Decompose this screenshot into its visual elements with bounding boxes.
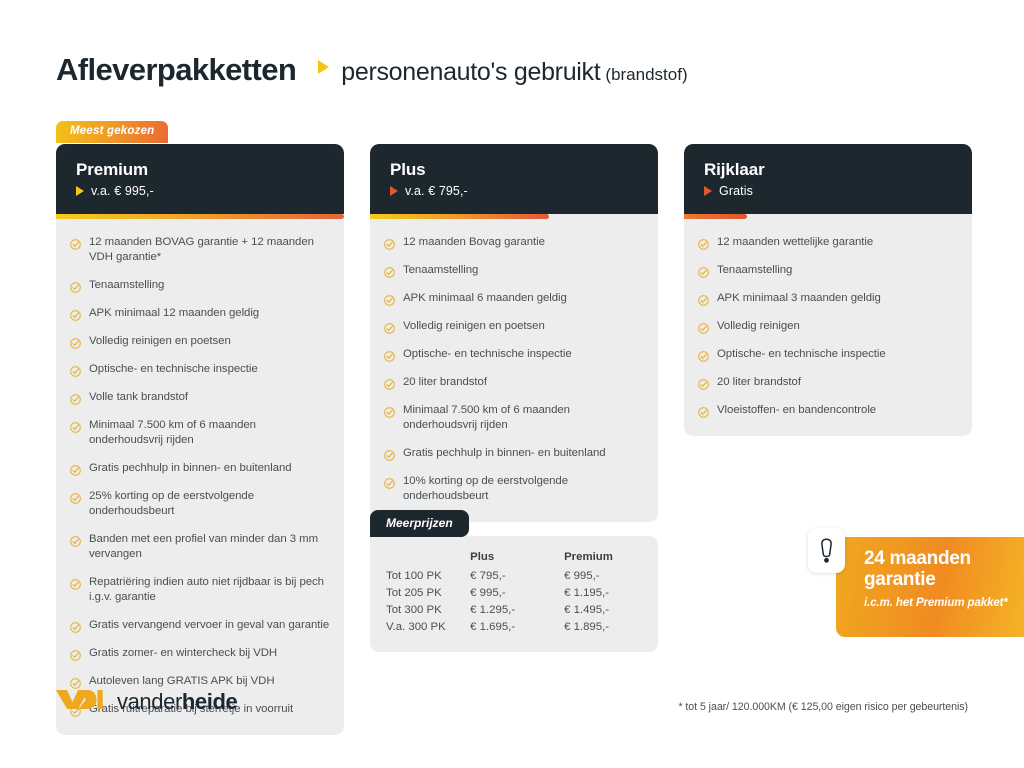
feature-list: 12 maanden Bovag garantieTenaamstellingA… (370, 219, 658, 523)
check-circle-icon (384, 476, 395, 487)
check-circle-icon (384, 377, 395, 388)
footnote: * tot 5 jaar/ 120.000KM (€ 125,00 eigen … (678, 701, 968, 713)
prices-table-head: Plus Premium (370, 548, 658, 568)
check-circle-icon (698, 377, 709, 388)
feature-item: Minimaal 7.500 km of 6 maanden onderhoud… (384, 403, 644, 433)
feature-label: 10% korting op de eerstvolgende onderhou… (403, 474, 644, 504)
check-circle-icon (70, 237, 81, 248)
check-circle-icon (698, 321, 709, 332)
col-header-1: Plus (470, 548, 564, 568)
feature-label: Gratis pechhulp in binnen- en buitenland (403, 446, 606, 461)
feature-label: Gratis pechhulp in binnen- en buitenland (89, 461, 292, 476)
feature-item: Gratis vervangend vervoer in geval van g… (70, 618, 330, 633)
prices-tab-label: Meerprijzen (370, 510, 469, 537)
feature-label: Optische- en technische inspectie (403, 347, 572, 362)
feature-label: Tenaamstelling (403, 263, 478, 278)
feature-label: Minimaal 7.500 km of 6 maanden onderhoud… (403, 403, 644, 433)
check-circle-icon (70, 336, 81, 347)
package-price-row: v.a. € 995,- (76, 184, 324, 198)
feature-item: Repatriëring indien auto niet rijdbaar i… (70, 575, 330, 605)
feature-item: Tenaamstelling (70, 278, 330, 293)
check-circle-icon (70, 534, 81, 545)
table-header-row: Plus Premium (370, 548, 658, 568)
feature-list: 12 maanden wettelijke garantieTenaamstel… (684, 219, 972, 436)
feature-item: Tenaamstelling (384, 263, 644, 278)
feature-label: 20 liter brandstof (403, 375, 487, 390)
check-circle-icon (384, 293, 395, 304)
table-cell: V.a. 300 PK (370, 619, 470, 636)
feature-item: 25% korting op de eerstvolgende onderhou… (70, 489, 330, 519)
feature-item: Volle tank brandstof (70, 390, 330, 405)
feature-label: Gratis vervangend vervoer in geval van g… (89, 618, 329, 633)
table-cell: € 795,- (470, 568, 564, 585)
check-circle-icon (384, 405, 395, 416)
package-card-premium[interactable]: Premium v.a. € 995,- 12 maanden BOVAG ga… (56, 144, 344, 735)
feature-item: Volledig reinigen (698, 319, 958, 334)
table-row: Tot 300 PK€ 1.295,-€ 1.495,- (370, 602, 658, 619)
package-name: Plus (390, 160, 638, 180)
feature-label: Repatriëring indien auto niet rijdbaar i… (89, 575, 330, 605)
table-cell: Tot 300 PK (370, 602, 470, 619)
prices-box: Plus Premium Tot 100 PK€ 795,-€ 995,-Tot… (370, 536, 658, 652)
feature-label: Optische- en technische inspectie (717, 347, 886, 362)
feature-item: 12 maanden wettelijke garantie (698, 235, 958, 250)
table-cell: Tot 205 PK (370, 585, 470, 602)
feature-label: Tenaamstelling (717, 263, 792, 278)
accent-bar (684, 214, 972, 219)
accent-bar (56, 214, 344, 219)
feature-label: Gratis zomer- en wintercheck bij VDH (89, 646, 277, 661)
feature-item: APK minimaal 3 maanden geldig (698, 291, 958, 306)
feature-label: Volledig reinigen en poetsen (89, 334, 231, 349)
feature-label: Minimaal 7.500 km of 6 maanden onderhoud… (89, 418, 330, 448)
table-cell: Tot 100 PK (370, 568, 470, 585)
check-circle-icon (70, 463, 81, 474)
table-row: Tot 100 PK€ 795,-€ 995,- (370, 568, 658, 585)
brand-wordmark: vanderheide (117, 689, 237, 715)
package-price: v.a. € 795,- (405, 184, 468, 198)
table-cell: € 1.695,- (470, 619, 564, 636)
page-subtitle: personenauto's gebruikt (341, 58, 600, 87)
feature-label: Banden met een profiel van minder dan 3 … (89, 532, 330, 562)
feature-item: Banden met een profiel van minder dan 3 … (70, 532, 330, 562)
check-circle-icon (384, 237, 395, 248)
guarantee-subtitle: i.c.m. het Premium pakket* (864, 597, 1008, 609)
col-header-2: Premium (564, 548, 658, 568)
table-cell: € 1.895,- (564, 619, 658, 636)
card-header: Plus v.a. € 795,- (370, 144, 658, 214)
feature-label: Tenaamstelling (89, 278, 164, 293)
triangle-right-icon (76, 186, 84, 196)
check-circle-icon (70, 308, 81, 319)
prices-panel: Meerprijzen Plus Premium Tot 100 PK€ 795… (370, 510, 658, 652)
check-circle-icon (70, 491, 81, 502)
check-circle-icon (384, 321, 395, 332)
feature-label: Volledig reinigen en poetsen (403, 319, 545, 334)
feature-label: 12 maanden wettelijke garantie (717, 235, 873, 250)
brand-logo: vanderheide (56, 688, 237, 715)
check-circle-icon (70, 392, 81, 403)
feature-item: Tenaamstelling (698, 263, 958, 278)
prices-table: Plus Premium Tot 100 PK€ 795,-€ 995,-Tot… (370, 548, 658, 636)
feature-item: Optische- en technische inspectie (384, 347, 644, 362)
package-price-row: Gratis (704, 184, 952, 198)
guarantee-badge: 24 maanden garantie i.c.m. het Premium p… (836, 537, 1024, 637)
table-cell: € 1.195,- (564, 585, 658, 602)
check-circle-icon (70, 620, 81, 631)
slide-root: Afleverpakketten personenauto's gebruikt… (0, 0, 1024, 768)
feature-label: Volledig reinigen (717, 319, 800, 334)
accent-fill (370, 214, 549, 219)
feature-item: Vloeistoffen- en bandencontrole (698, 403, 958, 418)
check-circle-icon (698, 405, 709, 416)
feature-label: APK minimaal 6 maanden geldig (403, 291, 567, 306)
feature-label: 12 maanden BOVAG garantie + 12 maanden V… (89, 235, 330, 265)
package-name: Premium (76, 160, 324, 180)
feature-item: 20 liter brandstof (384, 375, 644, 390)
feature-item: Minimaal 7.500 km of 6 maanden onderhoud… (70, 418, 330, 448)
check-circle-icon (70, 364, 81, 375)
feature-item: Volledig reinigen en poetsen (70, 334, 330, 349)
guarantee-line-1: 24 maanden (864, 549, 1008, 570)
badge-most-chosen: Meest gekozen (56, 121, 168, 143)
feature-item: Gratis pechhulp in binnen- en buitenland (384, 446, 644, 461)
feature-label: Vloeistoffen- en bandencontrole (717, 403, 876, 418)
check-circle-icon (698, 265, 709, 276)
brand-word-bold: heide (182, 689, 237, 714)
feature-label: APK minimaal 12 maanden geldig (89, 306, 259, 321)
check-circle-icon (698, 237, 709, 248)
feature-item: 10% korting op de eerstvolgende onderhou… (384, 474, 644, 504)
check-circle-icon (70, 280, 81, 291)
feature-label: Optische- en technische inspectie (89, 362, 258, 377)
feature-label: 12 maanden Bovag garantie (403, 235, 545, 250)
feature-label: 20 liter brandstof (717, 375, 801, 390)
feature-item: 12 maanden BOVAG garantie + 12 maanden V… (70, 235, 330, 265)
check-circle-icon (698, 349, 709, 360)
triangle-right-icon (318, 60, 329, 74)
accent-fill (56, 214, 344, 219)
feature-item: APK minimaal 6 maanden geldig (384, 291, 644, 306)
guarantee-line-2: garantie (864, 570, 1008, 591)
feature-item: 12 maanden Bovag garantie (384, 235, 644, 250)
check-circle-icon (70, 420, 81, 431)
feature-item: Gratis zomer- en wintercheck bij VDH (70, 646, 330, 661)
prices-table-body: Tot 100 PK€ 795,-€ 995,-Tot 205 PK€ 995,… (370, 568, 658, 636)
check-circle-icon (384, 349, 395, 360)
page-title: Afleverpakketten (56, 52, 296, 88)
feature-item: Gratis pechhulp in binnen- en buitenland (70, 461, 330, 476)
feature-item: Volledig reinigen en poetsen (384, 319, 644, 334)
check-circle-icon (384, 265, 395, 276)
page-header: Afleverpakketten personenauto's gebruikt… (56, 52, 688, 88)
table-cell: € 1.295,- (470, 602, 564, 619)
check-circle-icon (70, 577, 81, 588)
package-card-plus[interactable]: Plus v.a. € 795,- 12 maanden Bovag garan… (370, 144, 658, 522)
exclamation-mark-icon (808, 528, 845, 573)
feature-item: Optische- en technische inspectie (70, 362, 330, 377)
feature-label: 25% korting op de eerstvolgende onderhou… (89, 489, 330, 519)
triangle-right-icon (704, 186, 712, 196)
table-row: Tot 205 PK€ 995,-€ 1.195,- (370, 585, 658, 602)
check-circle-icon (70, 676, 81, 687)
check-circle-icon (698, 293, 709, 304)
package-price: v.a. € 995,- (91, 184, 154, 198)
feature-label: Volle tank brandstof (89, 390, 188, 405)
table-cell: € 1.495,- (564, 602, 658, 619)
table-cell: € 995,- (564, 568, 658, 585)
feature-item: APK minimaal 12 maanden geldig (70, 306, 330, 321)
package-name: Rijklaar (704, 160, 952, 180)
feature-list: 12 maanden BOVAG garantie + 12 maanden V… (56, 219, 344, 736)
card-header: Premium v.a. € 995,- (56, 144, 344, 214)
table-cell: € 995,- (470, 585, 564, 602)
vdh-logo-icon (56, 688, 103, 715)
col-header-0 (370, 548, 470, 568)
feature-item: Optische- en technische inspectie (698, 347, 958, 362)
brand-word-light: vander (117, 689, 182, 714)
feature-item: 20 liter brandstof (698, 375, 958, 390)
package-card-rijklaar[interactable]: Rijklaar Gratis 12 maanden wettelijke ga… (684, 144, 972, 436)
page-subtitle-note: (brandstof) (605, 65, 687, 85)
accent-fill (684, 214, 747, 219)
table-row: V.a. 300 PK€ 1.695,-€ 1.895,- (370, 619, 658, 636)
check-circle-icon (70, 648, 81, 659)
feature-label: APK minimaal 3 maanden geldig (717, 291, 881, 306)
check-circle-icon (384, 448, 395, 459)
package-price-row: v.a. € 795,- (390, 184, 638, 198)
package-price: Gratis (719, 184, 753, 198)
card-header: Rijklaar Gratis (684, 144, 972, 214)
triangle-right-icon (390, 186, 398, 196)
accent-bar (370, 214, 658, 219)
